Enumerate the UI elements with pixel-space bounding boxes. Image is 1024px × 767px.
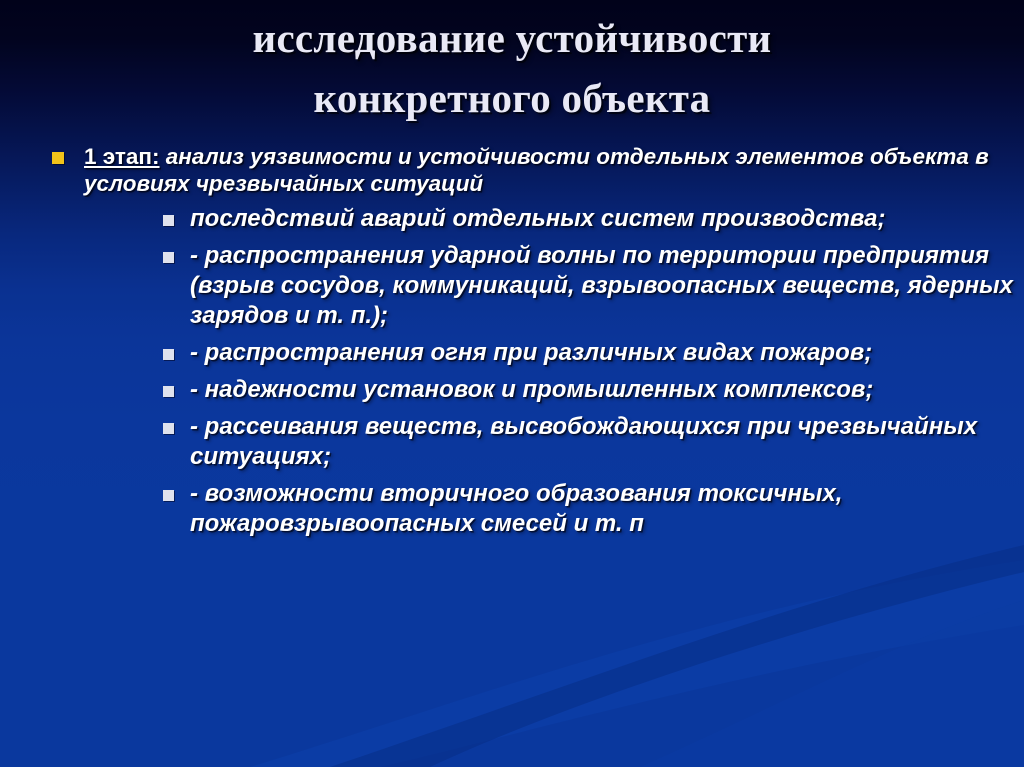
presentation-slide: исследование устойчивости конкретного об… — [0, 0, 1024, 767]
list-item-text: - распространения огня при различных вид… — [190, 338, 1014, 368]
square-bullet-light-icon — [163, 215, 174, 226]
list-item: - возможности вторичного образования ток… — [0, 479, 1024, 539]
list-item-text: - распространения ударной волны по терри… — [190, 241, 1014, 331]
slide-title-line-1: исследование устойчивости — [60, 8, 964, 68]
list-item-body: анализ уязвимости и устойчивости отдельн… — [84, 144, 989, 196]
list-item: 1 этап: анализ уязвимости и устойчивости… — [0, 143, 1024, 197]
list-item-text: - рассеивания веществ, высвобождающихся … — [190, 412, 1014, 472]
list-item-text: - надежности установок и промышленных ко… — [190, 375, 1014, 405]
list-item: - распространения огня при различных вид… — [0, 338, 1024, 368]
list-item: - надежности установок и промышленных ко… — [0, 375, 1024, 405]
list-item: - рассеивания веществ, высвобождающихся … — [0, 412, 1024, 472]
list-item-text: 1 этап: анализ уязвимости и устойчивости… — [84, 143, 1000, 197]
square-bullet-light-icon — [163, 386, 174, 397]
list-item: последствий аварий отдельных систем прои… — [0, 204, 1024, 234]
square-bullet-gold-icon — [52, 152, 64, 164]
slide-title-line-2: конкретного объекта — [60, 68, 964, 128]
list-item-lead-label: 1 этап: — [84, 144, 160, 169]
list-item-text: последствий аварий отдельных систем прои… — [190, 204, 1014, 234]
square-bullet-light-icon — [163, 252, 174, 263]
list-item: - распространения ударной волны по терри… — [0, 241, 1024, 331]
square-bullet-light-icon — [163, 349, 174, 360]
slide-title: исследование устойчивости конкретного об… — [60, 8, 964, 128]
list-item-text: - возможности вторичного образования ток… — [190, 479, 1014, 539]
square-bullet-light-icon — [163, 490, 174, 501]
square-bullet-light-icon — [163, 423, 174, 434]
slide-body-list: 1 этап: анализ уязвимости и устойчивости… — [0, 143, 1024, 539]
